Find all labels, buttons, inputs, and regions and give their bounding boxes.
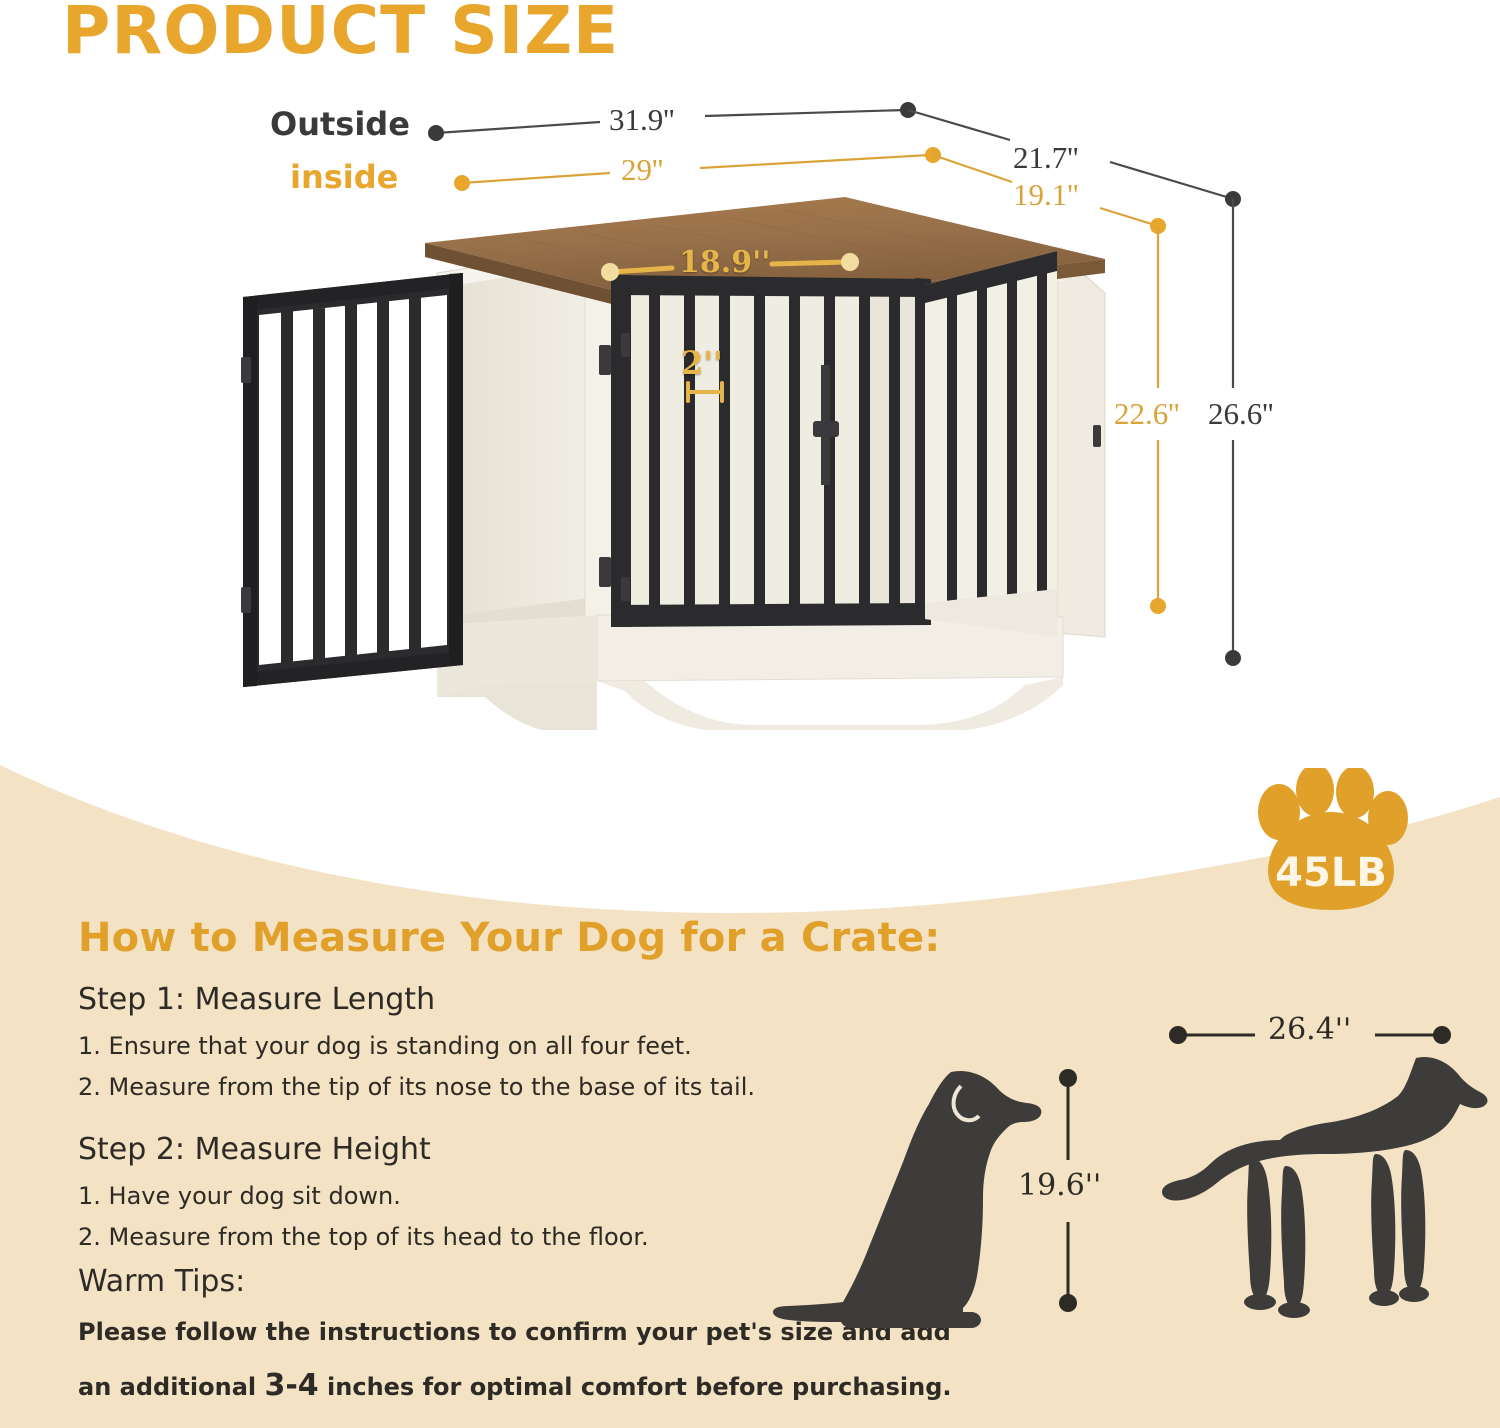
dimension-outside-height-label: 26.6'' [1208,396,1273,432]
warm-tips-line-2: an additional 3-4 inches for optimal com… [78,1368,952,1403]
dog-length-label: 26.4'' [1268,1012,1351,1047]
dimension-door-width-label: 18.9'' [679,245,770,280]
dimension-inside-height-label: 22.6'' [1114,396,1179,432]
step-2-title: Step 2: Measure Height [78,1132,431,1167]
dog-height-label: 19.6'' [1018,1168,1101,1203]
step-1-line-1: 1. Ensure that your dog is standing on a… [78,1032,692,1060]
dog-crate-product-image [225,185,1125,730]
warm-tips-emphasis: 3-4 [264,1368,318,1403]
warm-tips-line-2-suffix: inches for optimal comfort before purcha… [319,1373,952,1401]
dimension-bar-spacing-label: 2'' [681,344,723,382]
step-2-line-2: 2. Measure from the top of its head to t… [78,1223,649,1251]
crate-open-door [241,273,463,687]
dog-standing-silhouette [1160,1050,1490,1340]
guide-heading: How to Measure Your Dog for a Crate: [78,915,940,961]
warm-tips-title: Warm Tips: [78,1264,245,1299]
dimension-inside-depth-label: 19.1'' [1013,177,1078,213]
crate-front-bars [611,275,931,627]
step-1-line-2: 2. Measure from the tip of its nose to t… [78,1073,755,1101]
legend-inside-label: inside [290,158,398,196]
dimension-outside-height [1225,199,1241,666]
legend-outside-label: Outside [270,105,410,143]
paw-badge-weight-text: 45LB [1275,850,1387,896]
warm-tips-line-2-prefix: an additional [78,1373,264,1401]
paw-print-icon: 45LB [1243,768,1413,916]
dimension-inside-width-label: 29'' [621,152,663,188]
infographic-root: PRODUCT SIZE [0,0,1500,1428]
dimension-outside-depth-label: 21.7'' [1013,140,1078,176]
step-2-line-1: 1. Have your dog sit down. [78,1182,401,1210]
page-title: PRODUCT SIZE [62,0,619,69]
dimension-outside-width-label: 31.9'' [609,102,674,138]
step-1-title: Step 1: Measure Length [78,982,435,1017]
